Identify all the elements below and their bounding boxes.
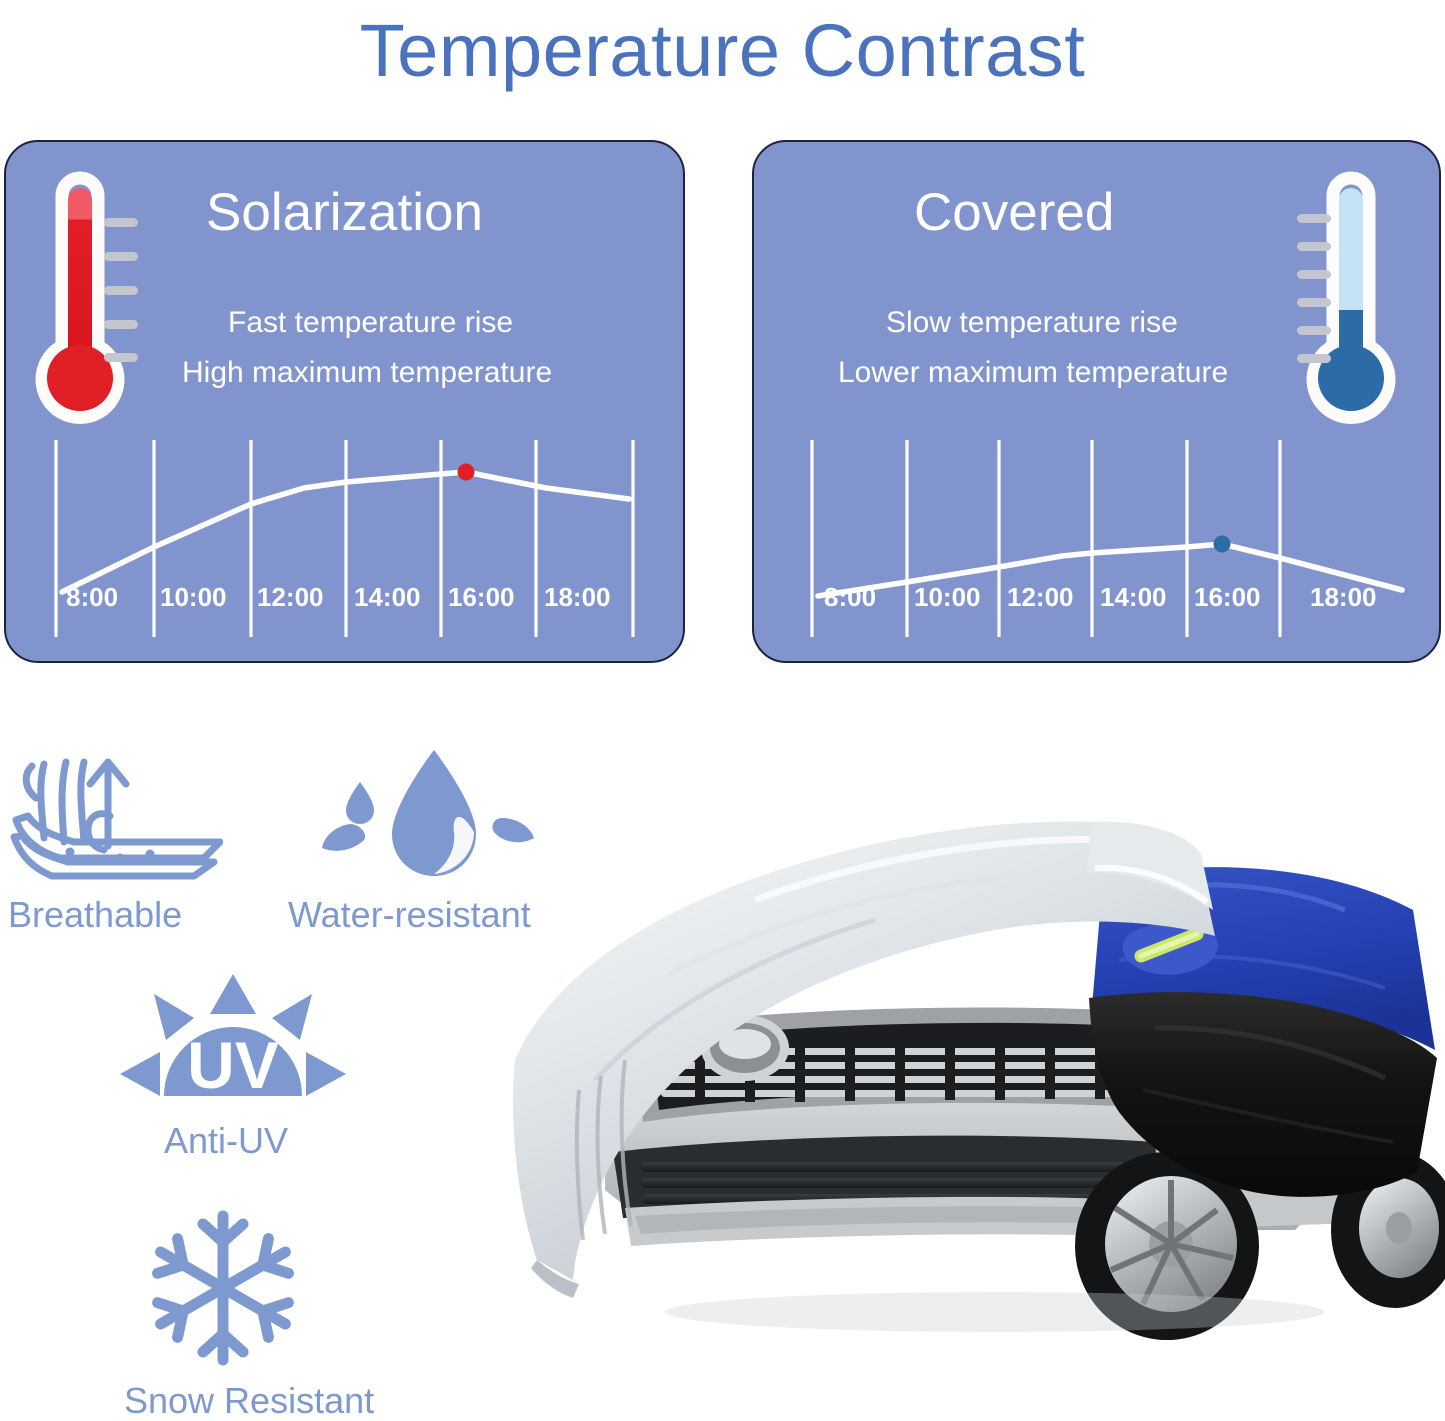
feature-snow-resistant: Snow Resistant <box>118 1208 368 1413</box>
x-tick-1400: 14:00 <box>1100 584 1167 610</box>
x-tick-0800: 8:00 <box>66 584 118 610</box>
breathable-fabric-icon <box>8 742 223 897</box>
chart-peak-marker <box>1214 536 1231 553</box>
comparison-panels: Solarization Fast temperature rise High … <box>0 140 1445 665</box>
uv-icon-text: UV <box>187 1028 279 1102</box>
panel-heading-solarization: Solarization <box>206 186 483 239</box>
feature-label-anti-uv: Anti-UV <box>164 1123 288 1159</box>
x-tick-1000: 10:00 <box>160 584 227 610</box>
panel-heading-covered: Covered <box>914 186 1114 239</box>
panel-subtitle-lower-max: Lower maximum temperature <box>838 358 1228 388</box>
chart-peak-marker <box>458 464 475 481</box>
page-title: Temperature Contrast <box>0 0 1445 100</box>
ground-shadow <box>665 1292 1325 1332</box>
feature-breathable: Breathable <box>8 742 248 947</box>
panel-subtitle-fast-rise: Fast temperature rise <box>228 308 513 338</box>
x-tick-1600: 16:00 <box>1194 584 1261 610</box>
hot-thermometer-icon <box>32 170 142 435</box>
panel-solarization: Solarization Fast temperature rise High … <box>4 140 685 663</box>
panel-subtitle-high-max: High maximum temperature <box>182 358 552 388</box>
x-tick-1000: 10:00 <box>914 584 981 610</box>
x-tick-1400: 14:00 <box>354 584 421 610</box>
covered-chart: 8:00 10:00 12:00 14:00 16:00 18:00 <box>802 432 1412 647</box>
x-tick-0800: 8:00 <box>824 584 876 610</box>
cold-thermometer-icon <box>1289 170 1399 435</box>
sun-uv-icon: UV <box>118 968 348 1118</box>
panel-subtitle-slow-rise: Slow temperature rise <box>886 308 1178 338</box>
panel-covered: Covered Slow temperature rise Lower maxi… <box>752 140 1441 663</box>
suv-with-car-cover-photo <box>455 760 1445 1360</box>
feature-label-breathable: Breathable <box>8 897 182 933</box>
x-tick-1200: 12:00 <box>1007 584 1074 610</box>
snowflake-icon <box>118 1208 328 1378</box>
x-tick-1600: 16:00 <box>448 584 515 610</box>
x-tick-1800: 18:00 <box>1310 584 1377 610</box>
x-tick-1800: 18:00 <box>544 584 611 610</box>
feature-anti-uv: UV Anti-UV <box>118 968 368 1173</box>
solarization-chart: 8:00 10:00 12:00 14:00 16:00 18:00 <box>46 432 646 647</box>
feature-label-snow-resistant: Snow Resistant <box>124 1383 374 1419</box>
x-tick-1200: 12:00 <box>257 584 324 610</box>
